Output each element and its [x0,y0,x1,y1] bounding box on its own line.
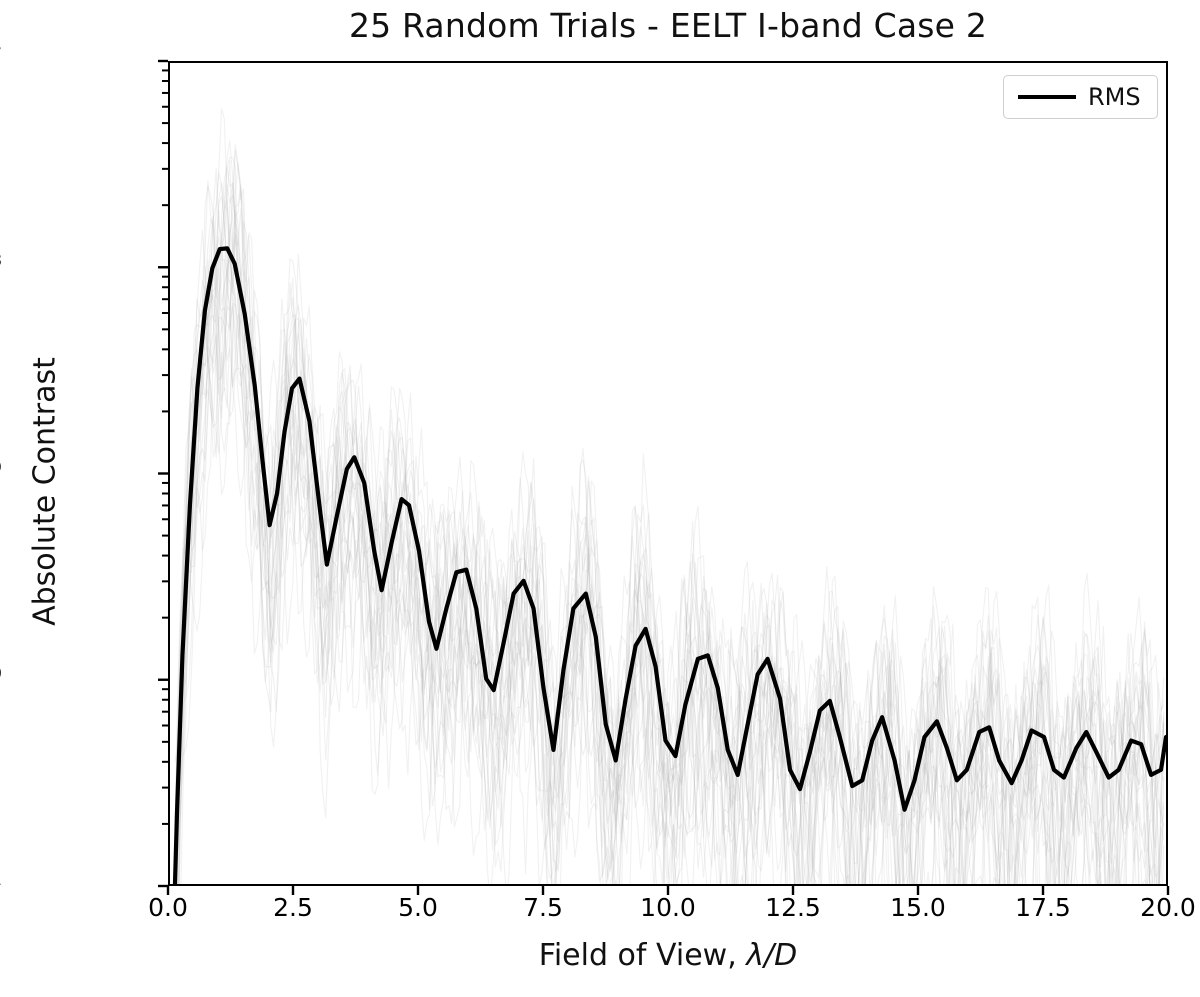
y-tick-label: 10-7 [0,47,2,76]
x-tick-label: 20.0 [1140,893,1196,922]
trial-curves-group [175,109,1164,884]
legend-line-swatch-rms [1018,95,1076,99]
y-tick-exponent: -10 [0,664,2,684]
y-tick-label: 10-9 [0,459,2,488]
plot-lines-svg [170,63,1166,884]
x-tick-label: 2.5 [273,893,313,922]
x-tick-label: 7.5 [523,893,563,922]
x-tick-label: 17.5 [1015,893,1071,922]
y-tick-exponent: -8 [0,251,2,271]
x-tick-label: 0.0 [148,893,188,922]
x-axis-title-prefix: Field of View, [539,938,747,973]
chart-title: 25 Random Trials - EELT I-band Case 2 [168,4,1168,48]
x-axis-title: Field of View, λ/D [168,938,1168,973]
y-axis-title: Absolute Contrast [28,232,63,752]
legend-label-rms: RMS [1088,85,1141,109]
legend-box[interactable]: RMS [1003,75,1158,119]
y-tick-exponent: -11 [0,870,2,890]
y-tick-label: 10-10 [0,665,2,694]
x-tick-label: 5.0 [398,893,438,922]
y-tick-exponent: -9 [0,458,2,478]
y-tick-exponent: -7 [0,45,2,65]
figure-canvas: 25 Random Trials - EELT I-band Case 2 10… [0,0,1200,997]
y-tick-label: 10-11 [0,872,2,901]
x-tick-label: 10.0 [640,893,696,922]
y-tick-label: 10-8 [0,253,2,282]
x-tick-label: 15.0 [890,893,946,922]
x-tick-label: 12.5 [765,893,821,922]
plot-area [168,61,1168,886]
x-axis-title-math: λ/D [746,938,797,973]
